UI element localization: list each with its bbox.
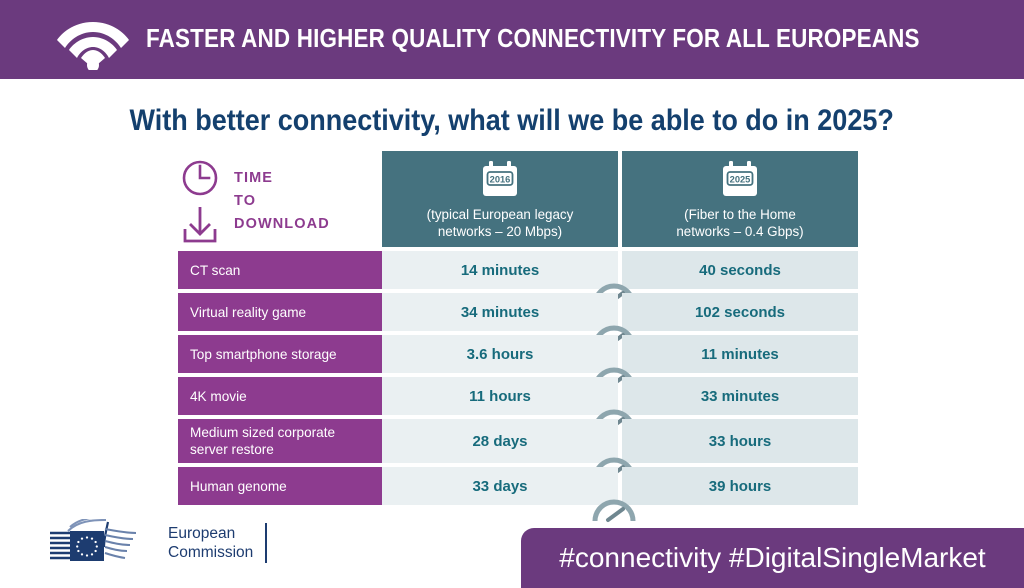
row-label: Virtual reality game xyxy=(178,293,382,331)
row-value-legacy: 34 minutes xyxy=(382,293,618,331)
table-row: Medium sized corporate server restore 28… xyxy=(178,419,858,463)
european-commission-logo: European Commission xyxy=(48,519,267,567)
column-caption-2016-line2: networks – 20 Mbps) xyxy=(427,223,574,240)
hashtag-text: #connectivity #DigitalSingleMarket xyxy=(559,542,985,574)
page-title-text: With better connectivity, what will we b… xyxy=(130,104,894,138)
ec-logo-divider xyxy=(265,523,267,563)
row-value-fiber: 33 minutes xyxy=(622,377,858,415)
table-header-row: TIME TO DOWNLOAD 2016 (typical European … xyxy=(178,151,858,247)
row-value-fiber: 33 hours xyxy=(622,419,858,463)
calendar-icon: 2025 xyxy=(720,159,760,199)
ec-logo-line1: European xyxy=(168,524,253,543)
row-label: Top smartphone storage xyxy=(178,335,382,373)
ec-logo-text: European Commission xyxy=(168,524,253,562)
clock-icon xyxy=(178,157,222,199)
time-to-download-label: TIME TO DOWNLOAD xyxy=(234,155,330,236)
time-to-download-icons xyxy=(178,155,234,251)
time-to-download-header: TIME TO DOWNLOAD xyxy=(178,151,382,247)
hashtag-banner: #connectivity #DigitalSingleMarket xyxy=(521,528,1024,588)
column-caption-2016-line1: (typical European legacy xyxy=(427,206,574,223)
table-row: Virtual reality game 34 minutes 102 seco… xyxy=(178,293,858,331)
comparison-table: TIME TO DOWNLOAD 2016 (typical European … xyxy=(178,151,858,505)
calendar-year-2016: 2016 xyxy=(490,174,511,184)
column-caption-2025-line1: (Fiber to the Home xyxy=(676,206,803,223)
ec-flag-mark xyxy=(48,519,158,567)
row-label: 4K movie xyxy=(178,377,382,415)
column-caption-2016: (typical European legacy networks – 20 M… xyxy=(415,206,586,240)
calendar-icon: 2016 xyxy=(480,159,520,199)
timeto-line-3: DOWNLOAD xyxy=(234,213,330,236)
row-value-legacy: 28 days xyxy=(382,419,618,463)
ec-logo-line2: Commission xyxy=(168,543,253,562)
table-row: 4K movie 11 hours 33 minutes xyxy=(178,377,858,415)
column-caption-2025: (Fiber to the Home networks – 0.4 Gbps) xyxy=(664,206,815,240)
row-value-legacy: 11 hours xyxy=(382,377,618,415)
column-header-2016: 2016 (typical European legacy networks –… xyxy=(382,151,618,247)
top-banner: FASTER AND HIGHER QUALITY CONNECTIVITY F… xyxy=(0,0,1024,79)
wifi-icon xyxy=(56,10,130,70)
infographic-page: FASTER AND HIGHER QUALITY CONNECTIVITY F… xyxy=(0,0,1024,588)
banner-title: FASTER AND HIGHER QUALITY CONNECTIVITY F… xyxy=(146,25,920,54)
row-value-legacy: 14 minutes xyxy=(382,251,618,289)
row-value-legacy: 3.6 hours xyxy=(382,335,618,373)
page-title: With better connectivity, what will we b… xyxy=(0,104,1024,138)
row-value-fiber: 39 hours xyxy=(622,467,858,505)
column-header-2025: 2025 (Fiber to the Home networks – 0.4 G… xyxy=(622,151,858,247)
row-label: Human genome xyxy=(178,467,382,505)
row-label: Medium sized corporate server restore xyxy=(178,419,382,463)
timeto-line-2: TO xyxy=(234,190,330,213)
row-value-fiber: 102 seconds xyxy=(622,293,858,331)
calendar-year-2025: 2025 xyxy=(730,174,751,184)
column-caption-2025-line2: networks – 0.4 Gbps) xyxy=(676,223,803,240)
row-label: CT scan xyxy=(178,251,382,289)
table-row: CT scan 14 minutes 40 seconds xyxy=(178,251,858,289)
table-row: Human genome 33 days 39 hours xyxy=(178,467,858,505)
download-icon xyxy=(178,204,222,246)
row-value-fiber: 11 minutes xyxy=(622,335,858,373)
timeto-line-1: TIME xyxy=(234,167,330,190)
row-value-legacy: 33 days xyxy=(382,467,618,505)
row-value-fiber: 40 seconds xyxy=(622,251,858,289)
table-row: Top smartphone storage 3.6 hours 11 minu… xyxy=(178,335,858,373)
